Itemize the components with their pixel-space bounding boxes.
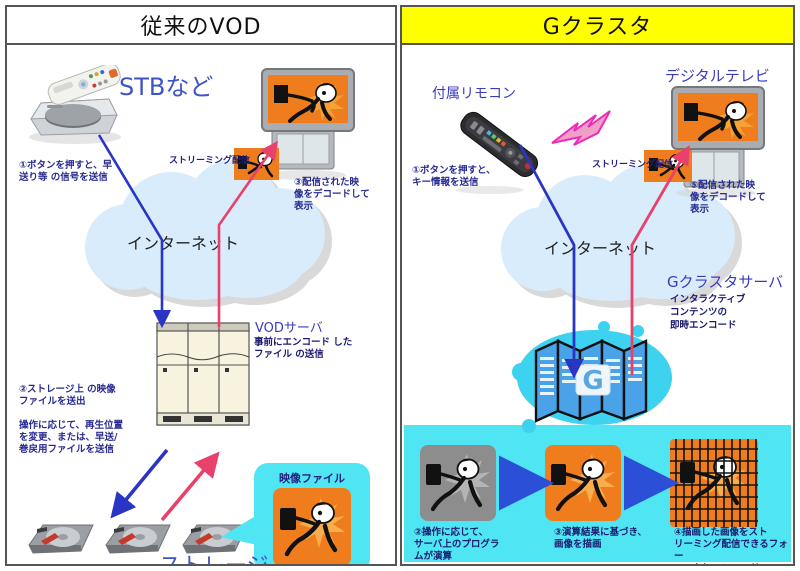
arrow-storage-to-server: [162, 457, 215, 520]
panel-g-cluster: Gクラスタ: [400, 5, 795, 566]
panel-left-body: インターネット: [7, 45, 395, 564]
panel-right-title: Gクラスタ: [543, 9, 653, 41]
arrows-right: [402, 45, 793, 564]
arrows-left: [7, 45, 395, 564]
panel-right-body: インターネット 付属リモコン: [402, 45, 793, 564]
panel-right-header: Gクラスタ: [402, 7, 793, 45]
panel-conventional-vod: 従来のVOD: [5, 5, 397, 566]
arrow-remote-to-server: [520, 145, 574, 373]
panel-left-header: 従来のVOD: [7, 7, 395, 45]
arrow-server-to-storage: [115, 450, 167, 513]
arrow-stb-to-server: [99, 135, 162, 323]
arrow-server-to-tv: [219, 145, 275, 327]
diagram-root: 従来のVOD: [0, 0, 800, 571]
panel-left-title: 従来のVOD: [141, 9, 262, 41]
arrow-server-to-tv-right: [632, 150, 687, 375]
